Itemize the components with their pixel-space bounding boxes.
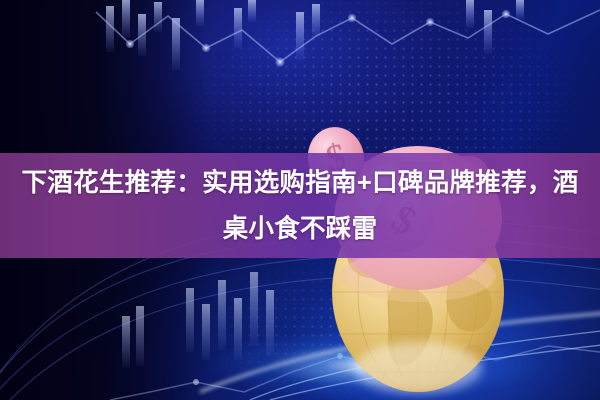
title-banner: 下酒花生推荐：实用选购指南+口碑品牌推荐，酒 桌小食不踩雷: [0, 153, 600, 258]
banner-image: $ $ 下酒花生推荐：实用选购指南+口碑品牌推荐，酒 桌小食不踩雷: [0, 0, 600, 400]
title-line-1: 下酒花生推荐：实用选购指南+口碑品牌推荐，酒: [22, 160, 579, 206]
title-line-2: 桌小食不踩雷: [223, 206, 378, 252]
